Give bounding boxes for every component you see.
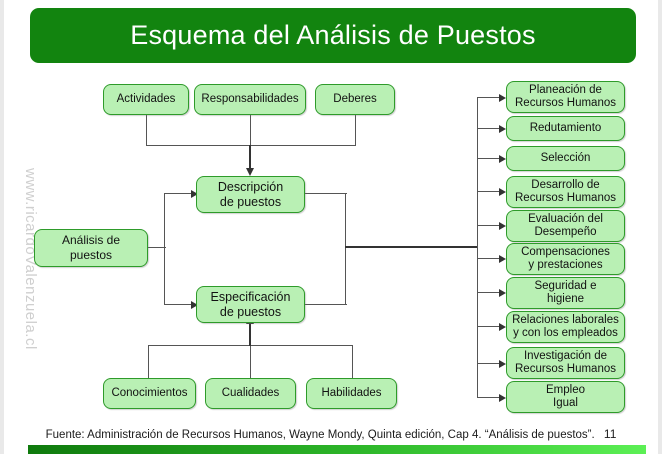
- node-output-7-line2: higiene: [544, 293, 587, 306]
- node-output-seleccion[interactable]: Selección: [506, 146, 625, 171]
- arrowhead-into-descripcion: [246, 168, 254, 176]
- node-deberes-label: Deberes: [330, 93, 379, 106]
- connector-analisis-split: [164, 193, 165, 305]
- node-output-relaciones-laborales[interactable]: Relaciones laborales y con los empleados: [506, 311, 625, 343]
- node-output-6-line1: Compensaciones: [518, 246, 613, 259]
- arrowhead-output-9: [499, 360, 506, 368]
- bottom-accent-bar: [28, 445, 646, 454]
- connector-merge-to-spine: [345, 246, 478, 248]
- node-especificacion-de-puestos[interactable]: Especificación de puestos: [196, 286, 305, 323]
- node-output-9-line2: Recursos Humanos: [512, 363, 619, 376]
- arrowhead-output-4: [499, 188, 506, 196]
- connector-responsabilidades-down: [250, 114, 251, 146]
- page-title: Esquema del Análisis de Puestos: [130, 20, 535, 51]
- node-especificacion-line1: Especificación: [208, 290, 294, 305]
- node-output-8-line2: y con los empleados: [510, 327, 621, 340]
- connector-habilidades-up: [352, 345, 353, 378]
- node-output-5-line1: Evaluación del: [525, 213, 606, 226]
- arrowhead-output-2: [499, 125, 506, 133]
- node-output-investigacion-recursos-humanos[interactable]: Investigación de Recursos Humanos: [506, 347, 625, 379]
- node-output-8-line1: Relaciones laborales: [509, 314, 622, 327]
- node-especificacion-line2: de puestos: [217, 305, 284, 320]
- node-cualidades[interactable]: Cualidades: [205, 378, 296, 409]
- node-output-desarrollo-recursos-humanos[interactable]: Desarrollo de Recursos Humanos: [506, 176, 625, 208]
- connector-bottom-bus-to-especificacion: [249, 322, 251, 346]
- arrowhead-output-6: [499, 255, 506, 263]
- node-output-empleo-igual[interactable]: Empleo Igual: [506, 381, 625, 413]
- node-habilidades-label: Habilidades: [318, 387, 384, 400]
- slide-canvas: Esquema del Análisis de Puestos www.rica…: [0, 0, 662, 454]
- node-descripcion-de-puestos[interactable]: Descripción de puestos: [196, 176, 305, 213]
- node-output-planeacion-recursos-humanos[interactable]: Planeación de Recursos Humanos: [506, 81, 625, 113]
- arrowhead-output-3: [499, 155, 506, 163]
- node-output-7-line1: Seguridad e: [531, 280, 599, 293]
- node-conocimientos-label: Conocimientos: [108, 387, 190, 400]
- node-cualidades-label: Cualidades: [219, 387, 283, 400]
- arrowhead-output-10: [499, 394, 506, 402]
- title-banner: Esquema del Análisis de Puestos: [30, 8, 636, 63]
- node-responsabilidades[interactable]: Responsabilidades: [194, 84, 306, 115]
- node-output-1-line2: Recursos Humanos: [512, 97, 619, 110]
- connector-merge-vertical: [345, 193, 346, 305]
- arrowhead-output-8: [499, 323, 506, 331]
- footer: Fuente: Administración de Recursos Human…: [0, 427, 662, 441]
- connector-deberes-down: [355, 114, 356, 146]
- node-responsabilidades-label: Responsabilidades: [198, 93, 301, 106]
- node-actividades[interactable]: Actividades: [103, 84, 189, 115]
- node-output-6-line2: y prestaciones: [525, 259, 605, 272]
- footer-source-text: Fuente: Administración de Recursos Human…: [46, 429, 595, 441]
- node-descripcion-line1: Descripción: [215, 180, 286, 195]
- node-analisis-de-puestos[interactable]: Análisis de puestos: [34, 229, 148, 267]
- node-output-5-line2: Desempeño: [531, 226, 599, 239]
- node-output-3-line1: Selección: [538, 152, 594, 165]
- connector-descripcion-out: [305, 193, 347, 194]
- node-conocimientos[interactable]: Conocimientos: [103, 378, 196, 409]
- node-analisis-line1: Análisis de: [59, 233, 123, 248]
- page-number: 11: [604, 427, 616, 441]
- slide-right-edge: [658, 0, 662, 454]
- node-output-4-line1: Desarrollo de: [528, 179, 602, 192]
- node-descripcion-line2: de puestos: [217, 195, 284, 210]
- connector-output-spine: [477, 97, 478, 398]
- arrowhead-output-5: [499, 222, 506, 230]
- node-deberes[interactable]: Deberes: [315, 84, 395, 115]
- connector-conocimientos-up: [148, 345, 149, 378]
- node-output-redutamiento[interactable]: Redutamiento: [506, 116, 625, 141]
- connector-actividades-down: [146, 114, 147, 146]
- node-output-evaluacion-desempeno[interactable]: Evaluación del Desempeño: [506, 210, 625, 242]
- node-output-4-line2: Recursos Humanos: [512, 192, 619, 205]
- node-analisis-line2: puestos: [67, 248, 115, 263]
- node-output-10-line1: Empleo: [543, 384, 588, 397]
- connector-cualidades-up: [250, 345, 251, 378]
- slide-left-edge: [0, 0, 4, 454]
- node-output-9-line1: Investigación de: [521, 350, 610, 363]
- node-actividades-label: Actividades: [114, 93, 179, 106]
- node-output-2-line1: Redutamiento: [527, 122, 605, 135]
- arrowhead-output-7: [499, 289, 506, 297]
- node-output-compensaciones-prestaciones[interactable]: Compensaciones y prestaciones: [506, 243, 625, 275]
- node-output-10-line2: Igual: [550, 397, 581, 410]
- site-watermark: www.ricardoValenzuela.cl: [17, 168, 39, 408]
- node-output-1-line1: Planeación de: [526, 84, 605, 97]
- arrowhead-output-1: [499, 94, 506, 102]
- connector-especificacion-out: [305, 304, 347, 305]
- node-habilidades[interactable]: Habilidades: [306, 378, 397, 409]
- node-output-seguridad-higiene[interactable]: Seguridad e higiene: [506, 277, 625, 309]
